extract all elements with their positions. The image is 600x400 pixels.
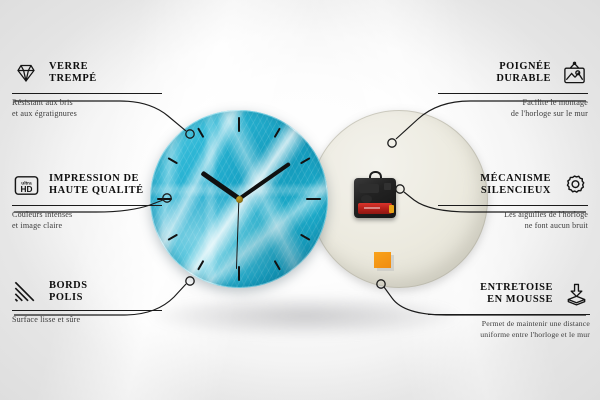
clock-front-rim [150,110,328,288]
callout-title: ENTRETOISEEN MOUSSE [428,282,553,306]
callout-subtitle: Couleurs intenseset image claire [12,210,162,231]
callout-header: BORDSPOLIS [12,277,162,307]
callout-header: VERRETREMPÉ [12,56,162,90]
callout-title: BORDSPOLIS [49,280,162,304]
callout-divider [12,93,162,94]
mechanism-screw [384,183,391,190]
polished-edge-icon [12,278,40,306]
callout-subtitle: Résistant aux briset aux égratignures [12,98,162,119]
callout-divider [12,205,162,206]
callout-header: POIGNÉEDURABLE [438,56,588,90]
foam-spacer-pad [374,252,391,268]
callout-verre-trempe: VERRETREMPÉ Résistant aux briset aux égr… [12,56,162,119]
clock-front-view [150,110,328,288]
callout-subtitle: Facilite le montagede l'horloge sur le m… [438,98,588,119]
battery-band [364,207,380,209]
foam-spacer-icon [562,280,590,308]
ultra-hd-icon: ultra HD [12,171,40,199]
callout-divider [438,93,588,94]
callout-divider [12,310,162,311]
gear-icon [560,171,588,199]
callout-entretoise-en-mousse: ENTRETOISEEN MOUSSE Permet de maintenir … [428,277,590,340]
callout-bords-polis: BORDSPOLIS Surface lisse et sûre [12,277,162,326]
callout-poignee-durable: POIGNÉEDURABLE Facilite le montagede l'h… [438,56,588,119]
callout-divider [428,314,590,315]
svg-text:HD: HD [20,183,32,193]
callout-subtitle: Permet de maintenir une distanceuniforme… [428,319,590,340]
callout-subtitle: Les aiguilles de l'horlogene font aucun … [438,210,588,231]
callout-header: ultra HD IMPRESSION DEHAUTE QUALITÉ [12,168,162,202]
callout-header: ENTRETOISEEN MOUSSE [428,277,590,311]
callout-title: MÉCANISMESILENCIEUX [438,173,551,197]
battery-terminal [389,205,394,213]
product-drop-shadow [150,295,460,337]
callout-title: VERRETREMPÉ [49,61,162,85]
mechanism-dial [361,195,372,203]
product-infographic: VERRETREMPÉ Résistant aux briset aux égr… [0,0,600,400]
callout-mecanisme-silencieux: MÉCANISMESILENCIEUX Les aiguilles de l'h… [438,168,588,231]
battery [358,203,392,214]
callout-divider [438,205,588,206]
callout-impression-haute-qualite: ultra HD IMPRESSION DEHAUTE QUALITÉ Coul… [12,168,162,231]
picture-hanger-icon [560,59,588,87]
callout-title: IMPRESSION DEHAUTE QUALITÉ [49,173,162,197]
mechanism-panel [359,184,379,193]
callout-subtitle: Surface lisse et sûre [12,315,162,325]
diamond-icon [12,59,40,87]
callout-title: POIGNÉEDURABLE [438,61,551,85]
callout-header: MÉCANISMESILENCIEUX [438,168,588,202]
clock-mechanism [354,178,396,218]
